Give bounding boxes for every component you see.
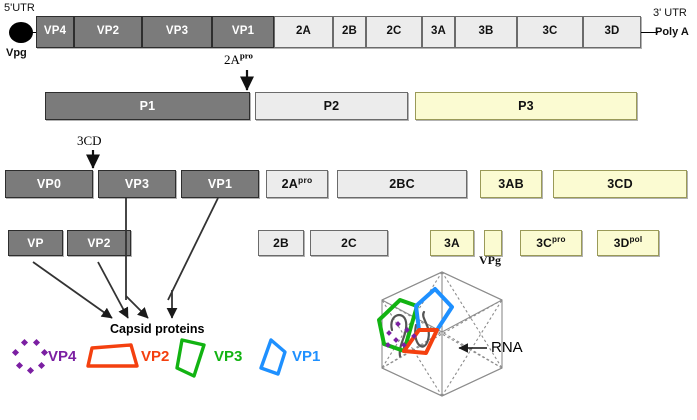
capsid-arrow-vp2 bbox=[98, 262, 128, 318]
precursor-segment-label: P3 bbox=[518, 100, 534, 113]
intermediate-segment-2a: 2Apro bbox=[266, 170, 328, 198]
genome-segment-label: 3D bbox=[604, 26, 619, 38]
capsid-arrow-vp3 bbox=[126, 296, 148, 318]
lineage-line-vp1 bbox=[168, 198, 218, 300]
mature-segment-3a: 3A bbox=[430, 230, 474, 256]
genome-segment-label: VP3 bbox=[166, 26, 188, 38]
mature-segment-vp: VP bbox=[8, 230, 63, 256]
legend-label-vp3: VP3 bbox=[214, 349, 242, 364]
virion-vp4-dots-icon bbox=[385, 321, 417, 348]
vpg-circle-icon bbox=[9, 22, 33, 43]
intermediate-segment-vp0: VP0 bbox=[5, 170, 93, 198]
mature-segment-label: 2C bbox=[341, 237, 357, 249]
genome-segment-vp4: VP4 bbox=[36, 16, 74, 48]
figure-canvas: 5'UTR Vpg VP4VP2VP3VP12A2B2C3A3B3C3D 3' … bbox=[0, 0, 697, 420]
intermediate-segment-vp3: VP3 bbox=[98, 170, 176, 198]
cleavage-label-2apro: 2Apro bbox=[224, 53, 253, 66]
mature-segment-label: 2B bbox=[273, 237, 289, 249]
genome-segment-label: 3A bbox=[431, 26, 446, 38]
genome-segment-3d: 3D bbox=[583, 16, 641, 48]
legend-label-vp4: VP4 bbox=[48, 349, 76, 364]
genome-segment-3a: 3A bbox=[422, 16, 455, 48]
genome-segment-label: VP2 bbox=[97, 26, 119, 38]
mature-segment-2b: 2B bbox=[258, 230, 304, 256]
genome-segment-vp2: VP2 bbox=[74, 16, 142, 48]
genome-segment-3b: 3B bbox=[455, 16, 517, 48]
legend-vp4-dotted-ring-icon bbox=[12, 339, 48, 374]
intermediate-segment-label: 2BC bbox=[389, 178, 415, 191]
genome-segment-vp1: VP1 bbox=[212, 16, 274, 48]
vpg-label: Vpg bbox=[6, 48, 27, 59]
mature-segment-label: VP bbox=[27, 237, 43, 249]
genome-segment-label: 3C bbox=[542, 26, 557, 38]
virion-icosahedron-icon bbox=[382, 272, 502, 396]
genome-segment-2b: 2B bbox=[333, 16, 366, 48]
genome-segment-label: 3B bbox=[478, 26, 493, 38]
genome-segment-label: VP1 bbox=[232, 26, 254, 38]
mature-segment-label: 3Dpol bbox=[614, 237, 643, 249]
rna-strand-icon bbox=[391, 312, 428, 356]
intermediate-segment-label: 3CD bbox=[607, 178, 633, 191]
intermediate-segment-2bc: 2BC bbox=[337, 170, 467, 198]
legend-label-vp1: VP1 bbox=[292, 349, 320, 364]
mature-segment-superscript: pro bbox=[552, 235, 566, 244]
genome-segment-label: 2C bbox=[386, 26, 401, 38]
intermediate-segment-label: VP3 bbox=[125, 178, 149, 191]
utr5-label: 5'UTR bbox=[4, 3, 35, 14]
intermediate-segment-superscript: pro bbox=[298, 175, 312, 185]
mature-segment-3c: 3Cpro bbox=[520, 230, 582, 256]
genome-segment-vp3: VP3 bbox=[142, 16, 212, 48]
intermediate-segment-vp1: VP1 bbox=[181, 170, 259, 198]
genome-segment-2c: 2C bbox=[366, 16, 422, 48]
genome-segment-2a: 2A bbox=[274, 16, 333, 48]
virion-face-vp3 bbox=[379, 300, 417, 351]
intermediate-segment-label: VP1 bbox=[208, 178, 232, 191]
precursor-segment-label: P1 bbox=[140, 100, 156, 113]
intermediate-segment-label: VP0 bbox=[37, 178, 61, 191]
virion-face-vp1 bbox=[416, 289, 452, 330]
intermediate-segment-label: 3AB bbox=[498, 178, 524, 191]
cleavage-label-3cd: 3CD bbox=[77, 134, 102, 147]
utr3-label: 3' UTR bbox=[653, 8, 687, 19]
legend-vp3-parallelogram-icon bbox=[177, 340, 204, 376]
mature-segment-vp2: VP2 bbox=[67, 230, 131, 256]
intermediate-segment-3ab: 3AB bbox=[480, 170, 542, 198]
mature-segment-label: VP2 bbox=[87, 237, 110, 249]
genome-segment-3c: 3C bbox=[517, 16, 583, 48]
capsid-arrow-vp4 bbox=[33, 262, 112, 318]
vpg-mature-label: VPg bbox=[479, 254, 501, 266]
capsid-proteins-heading: Capsid proteins bbox=[110, 322, 204, 336]
legend-vp2-trapezoid-icon bbox=[88, 345, 137, 366]
mature-segment-label: 3Cpro bbox=[536, 237, 566, 249]
precursor-segment-label: P2 bbox=[324, 100, 340, 113]
legend-label-vp2: VP2 bbox=[141, 349, 169, 364]
mature-segment-superscript: pol bbox=[629, 235, 642, 244]
intermediate-segment-3cd: 3CD bbox=[553, 170, 687, 198]
rna-label: RNA bbox=[491, 339, 523, 356]
genome-segment-label: 2B bbox=[342, 26, 357, 38]
legend-vp1-wedge-icon bbox=[261, 340, 285, 374]
genome-segment-label: 2A bbox=[296, 26, 311, 38]
polya-label: Poly A bbox=[655, 27, 689, 38]
genome-segment-label: VP4 bbox=[44, 26, 66, 38]
precursor-segment-p1: P1 bbox=[45, 92, 250, 120]
virion-face-vp2 bbox=[404, 330, 437, 353]
mature-segment-2c: 2C bbox=[310, 230, 388, 256]
arrow-layer bbox=[0, 0, 697, 420]
mature-segment-3d: 3Dpol bbox=[597, 230, 659, 256]
mature-segment-label: 3A bbox=[444, 237, 460, 249]
intermediate-segment-label: 2Apro bbox=[282, 178, 313, 191]
precursor-segment-p2: P2 bbox=[255, 92, 408, 120]
precursor-segment-p3: P3 bbox=[415, 92, 637, 120]
